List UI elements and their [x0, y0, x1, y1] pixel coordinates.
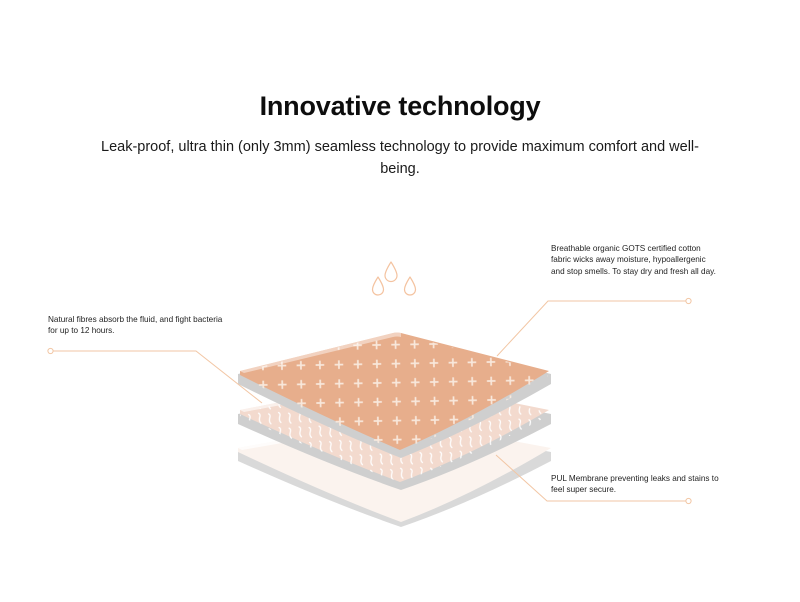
water-droplets-group [373, 262, 416, 295]
page-root: Innovative technology Leak-proof, ultra … [0, 0, 800, 602]
leader-line-left [53, 351, 262, 403]
annotation-top-right: Breathable organic GOTS certified cotton… [551, 243, 719, 277]
leader-endpoint-bottom-right [686, 498, 691, 503]
fabric-layers-diagram [0, 0, 800, 602]
annotation-left: Natural fibres absorb the fluid, and fig… [48, 314, 228, 337]
water-droplet-icon [405, 277, 416, 295]
leader-line-top-right [497, 301, 686, 356]
leader-endpoint-top-right [686, 298, 691, 303]
leader-endpoint-left [48, 348, 53, 353]
annotation-bottom-right: PUL Membrane preventing leaks and stains… [551, 473, 726, 496]
water-droplet-icon [385, 262, 397, 282]
water-droplet-icon [373, 277, 384, 295]
